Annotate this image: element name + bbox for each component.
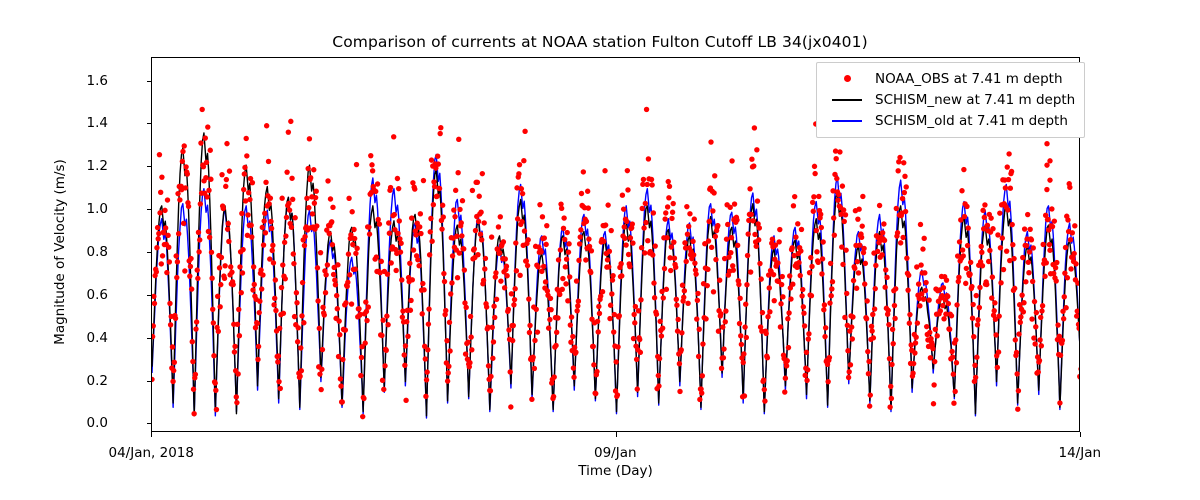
obs-data-point [979,244,984,249]
obs-data-point [260,225,265,230]
obs-data-point [932,359,937,364]
obs-data-point [152,301,157,306]
obs-data-point [245,212,250,217]
legend-entry[interactable]: NOAA_OBS at 7.41 m depth [826,68,1075,89]
obs-data-point [323,290,328,295]
obs-data-point [1075,308,1080,313]
obs-data-point [606,264,611,269]
obs-data-point [816,260,821,265]
obs-data-point [672,255,677,260]
obs-data-point [343,300,348,305]
obs-data-point [980,263,985,268]
obs-data-point [681,295,686,300]
obs-data-point [420,311,425,316]
obs-data-point [334,293,339,298]
obs-data-point [902,174,907,179]
obs-data-point [822,334,827,339]
obs-data-point [957,239,962,244]
obs-data-point [203,175,208,180]
obs-data-point [829,293,834,298]
obs-data-point [915,320,920,325]
obs-data-point [646,156,651,161]
obs-data-point [439,226,444,231]
obs-data-point [164,270,169,275]
obs-data-point [304,196,309,201]
obs-data-point [742,393,747,398]
obs-data-point [1044,260,1049,265]
obs-data-point [188,264,193,269]
obs-data-point [521,158,526,163]
obs-data-point [618,261,623,266]
obs-data-point [270,243,275,248]
obs-data-point [1020,255,1025,260]
obs-data-point [697,327,702,332]
obs-data-point [864,316,869,321]
obs-data-point [869,328,874,333]
obs-data-point [241,187,246,192]
obs-data-point [459,233,464,238]
obs-data-point [907,321,912,326]
obs-data-point [312,200,317,205]
obs-data-point [625,187,630,192]
obs-data-point [242,165,247,170]
obs-data-point [656,383,661,388]
obs-data-point [752,232,757,237]
obs-data-point [400,314,405,319]
obs-data-point [508,369,513,374]
obs-data-point [327,231,332,236]
obs-data-point [972,363,977,368]
obs-data-point [340,357,345,362]
obs-data-point [380,318,385,323]
obs-data-point [993,332,998,337]
obs-data-point [532,338,537,343]
obs-data-point [954,360,959,365]
obs-data-point [855,259,860,264]
obs-data-point [209,250,214,255]
obs-data-point [641,177,646,182]
obs-data-point [570,334,575,339]
obs-data-point [189,286,194,291]
obs-data-point [809,293,814,298]
obs-data-point [1004,248,1009,253]
y-tick-label: 1.4 [87,115,108,131]
obs-data-point [289,225,294,230]
obs-data-point [897,155,902,160]
obs-data-point [601,239,606,244]
obs-data-point [881,221,886,226]
obs-data-point [890,327,895,332]
obs-data-point [498,214,503,219]
obs-data-point [960,247,965,252]
obs-data-point [273,308,278,313]
obs-data-point [712,173,717,178]
obs-data-point [846,375,851,380]
obs-data-point [514,268,519,273]
obs-data-point [638,350,643,355]
obs-data-point [605,257,610,262]
obs-data-point [314,188,319,193]
obs-data-point [962,214,967,219]
obs-data-point [584,219,589,224]
obs-data-point [1065,275,1070,280]
obs-data-point [622,236,627,241]
obs-data-point [668,268,673,273]
obs-data-point [904,184,909,189]
obs-data-point [313,195,318,200]
obs-data-point [1010,242,1015,247]
obs-data-point [1062,294,1067,299]
obs-data-point [423,394,428,399]
obs-data-point [368,153,373,158]
obs-data-point [256,344,261,349]
y-tick-label: 1.2 [87,158,108,174]
obs-data-point [652,295,657,300]
obs-data-point [218,282,223,287]
obs-data-point [351,227,356,232]
obs-data-point [1044,187,1049,192]
obs-data-point [772,298,777,303]
obs-data-point [427,252,432,257]
obs-data-point [210,307,215,312]
obs-data-point [560,287,565,292]
obs-data-point [364,318,369,323]
obs-data-point [411,247,416,252]
obs-data-point [952,389,957,394]
obs-data-point [175,191,180,196]
obs-data-point [879,252,884,257]
obs-data-point [209,275,214,280]
obs-data-point [443,308,448,313]
obs-data-point [791,203,796,208]
obs-data-point [170,379,175,384]
obs-data-point [887,356,892,361]
obs-data-point [854,286,859,291]
obs-data-point [750,218,755,223]
obs-data-point [482,266,487,271]
obs-data-point [837,149,842,154]
obs-data-point [275,359,280,364]
obs-data-point [736,282,741,287]
obs-data-point [261,242,266,247]
obs-data-point [669,244,674,249]
obs-data-point [956,275,961,280]
obs-data-point [708,139,713,144]
obs-data-point [168,322,173,327]
obs-data-point [663,210,668,215]
obs-data-point [395,176,400,181]
obs-data-point [289,176,294,181]
obs-data-point [461,246,466,251]
obs-data-point [425,347,430,352]
obs-data-point [196,249,201,254]
obs-data-point [796,260,801,265]
obs-data-point [398,249,403,254]
obs-data-point [775,260,780,265]
obs-data-point [756,237,761,242]
obs-data-point [391,134,396,139]
obs-data-point [739,342,744,347]
obs-data-point [504,264,509,269]
obs-data-point [745,253,750,258]
obs-data-point [385,272,390,277]
obs-data-point [749,157,754,162]
obs-data-point [685,301,690,306]
obs-data-point [611,329,616,334]
obs-data-point [1039,343,1044,348]
obs-data-point [156,236,161,241]
obs-data-point [1047,248,1052,253]
obs-data-point [165,233,170,238]
obs-data-point [974,293,979,298]
obs-data-point [1014,350,1019,355]
obs-data-point [198,140,203,145]
obs-data-point [552,374,557,379]
obs-data-point [288,119,293,124]
obs-data-point [571,375,576,380]
obs-data-point [160,253,165,258]
obs-data-point [363,299,368,304]
obs-data-point [1021,309,1026,314]
obs-data-point [407,261,412,266]
obs-data-point [673,265,678,270]
obs-data-point [622,224,627,229]
obs-data-point [441,271,446,276]
obs-data-point [975,322,980,327]
obs-data-point [778,301,783,306]
legend-marker-dot-icon [826,75,868,82]
obs-data-point [912,350,917,355]
obs-data-point [649,182,654,187]
obs-data-point [748,269,753,274]
obs-data-point [1074,313,1079,318]
obs-data-point [490,356,495,361]
obs-data-point [1037,337,1042,342]
obs-data-point [183,164,188,169]
obs-data-point [373,189,378,194]
obs-data-point [986,259,991,264]
obs-data-point [524,258,529,263]
obs-data-point [318,387,323,392]
legend-entry[interactable]: SCHISM_new at 7.41 m depth [826,89,1075,110]
legend-entry[interactable]: SCHISM_old at 7.41 m depth [826,110,1075,131]
obs-data-point [947,327,952,332]
obs-data-point [653,243,658,248]
obs-data-point [628,235,633,240]
obs-data-point [872,306,877,311]
obs-data-point [297,373,302,378]
obs-data-point [790,245,795,250]
obs-data-point [393,268,398,273]
obs-data-point [928,355,933,360]
obs-data-point [657,356,662,361]
obs-data-point [965,243,970,248]
line-icon [832,120,862,122]
obs-data-point [211,353,216,358]
obs-data-point [493,270,498,275]
obs-data-point [940,303,945,308]
obs-data-point [347,272,352,277]
obs-data-point [544,223,549,228]
obs-data-point [944,277,949,282]
obs-data-point [539,269,544,274]
obs-data-point [989,295,994,300]
obs-data-point [1060,338,1065,343]
obs-data-point [319,367,324,372]
obs-data-point [250,287,255,292]
obs-data-point [1034,310,1039,315]
y-tick-label: 0.0 [87,415,108,431]
obs-data-point [283,276,288,281]
obs-data-point [152,334,155,339]
obs-data-point [783,376,788,381]
obs-data-point [861,246,866,251]
obs-data-point [620,193,625,198]
obs-data-point [951,400,956,405]
dot-icon [844,75,851,82]
obs-data-point [980,208,985,213]
obs-data-point [269,226,274,231]
obs-data-point [970,316,975,321]
obs-data-point [1003,185,1008,190]
obs-data-point [203,135,208,140]
obs-data-point [644,182,649,187]
obs-data-point [644,107,649,112]
obs-data-point [823,325,828,330]
obs-data-point [1015,407,1020,412]
obs-data-point [428,216,433,221]
obs-data-point [413,232,418,237]
obs-data-point [230,282,235,287]
x-tick-mark [151,432,152,437]
obs-data-point [470,188,475,193]
obs-data-point [579,191,584,196]
obs-data-point [889,362,894,367]
obs-data-point [284,169,289,174]
obs-data-point [520,191,525,196]
obs-data-point [540,214,545,219]
obs-data-point [426,321,431,326]
obs-data-point [608,303,613,308]
obs-data-point [1049,206,1054,211]
obs-data-point [271,260,276,265]
line-icon [832,99,862,101]
obs-data-point [247,197,252,202]
obs-data-point [197,237,202,242]
obs-data-point [752,125,757,130]
obs-data-point [402,352,407,357]
obs-data-point [420,281,425,286]
obs-data-point [776,239,781,244]
obs-data-point [1040,303,1045,308]
obs-data-point [721,355,726,360]
obs-data-point [770,236,775,241]
obs-data-point [546,325,551,330]
obs-data-point [183,185,188,190]
obs-data-point [1026,270,1031,275]
obs-data-point [315,265,320,270]
obs-data-point [266,159,271,164]
obs-data-point [451,207,456,212]
obs-data-point [510,338,515,343]
obs-data-point [481,278,486,283]
obs-data-point [286,129,291,134]
obs-data-point [358,373,363,378]
obs-data-point [159,261,164,266]
obs-data-point [834,156,839,161]
obs-data-point [625,168,630,173]
obs-data-point [884,275,889,280]
obs-data-point [974,355,979,360]
obs-data-point [299,313,304,318]
obs-data-point [396,186,401,191]
obs-data-point [223,184,228,189]
obs-data-point [415,257,420,262]
obs-data-point [996,313,1001,318]
obs-data-point [442,279,447,284]
obs-data-point [666,195,671,200]
obs-data-point [317,371,322,376]
obs-data-point [627,264,632,269]
obs-data-point [982,202,987,207]
obs-data-point [299,368,304,373]
obs-data-point [445,378,450,383]
obs-data-point [263,180,268,185]
obs-data-point [437,131,442,136]
obs-data-point [841,207,846,212]
obs-data-point [481,220,486,225]
obs-data-point [659,333,664,338]
obs-data-point [1033,324,1038,329]
obs-data-point [565,230,570,235]
obs-data-point [1047,177,1052,182]
obs-data-point [959,188,964,193]
obs-data-point [842,315,847,320]
obs-data-point [398,241,403,246]
obs-data-point [409,215,414,220]
obs-data-point [335,306,340,311]
obs-data-point [301,320,306,325]
obs-data-point [869,324,874,329]
obs-data-point [992,300,997,305]
obs-data-point [496,224,501,229]
obs-data-point [759,276,764,281]
obs-data-point [240,247,245,252]
obs-data-point [559,206,564,211]
obs-data-point [480,171,485,176]
obs-data-point [402,363,407,368]
obs-data-point [954,302,959,307]
obs-data-point [200,107,205,112]
obs-data-point [820,239,825,244]
obs-data-point [729,235,734,240]
obs-data-point [214,407,219,412]
obs-data-point [964,204,969,209]
obs-data-point [642,250,647,255]
obs-data-point [490,325,495,330]
obs-data-point [478,209,483,214]
obs-data-point [1044,141,1049,146]
obs-data-point [1027,227,1032,232]
obs-data-point [560,276,565,281]
y-tick-label: 0.2 [87,373,108,389]
obs-data-point [298,345,303,350]
x-tick-label: 04/Jan, 2018 [109,445,194,461]
obs-data-point [190,359,195,364]
obs-data-point [711,190,716,195]
obs-data-point [882,238,887,243]
obs-data-point [366,224,371,229]
